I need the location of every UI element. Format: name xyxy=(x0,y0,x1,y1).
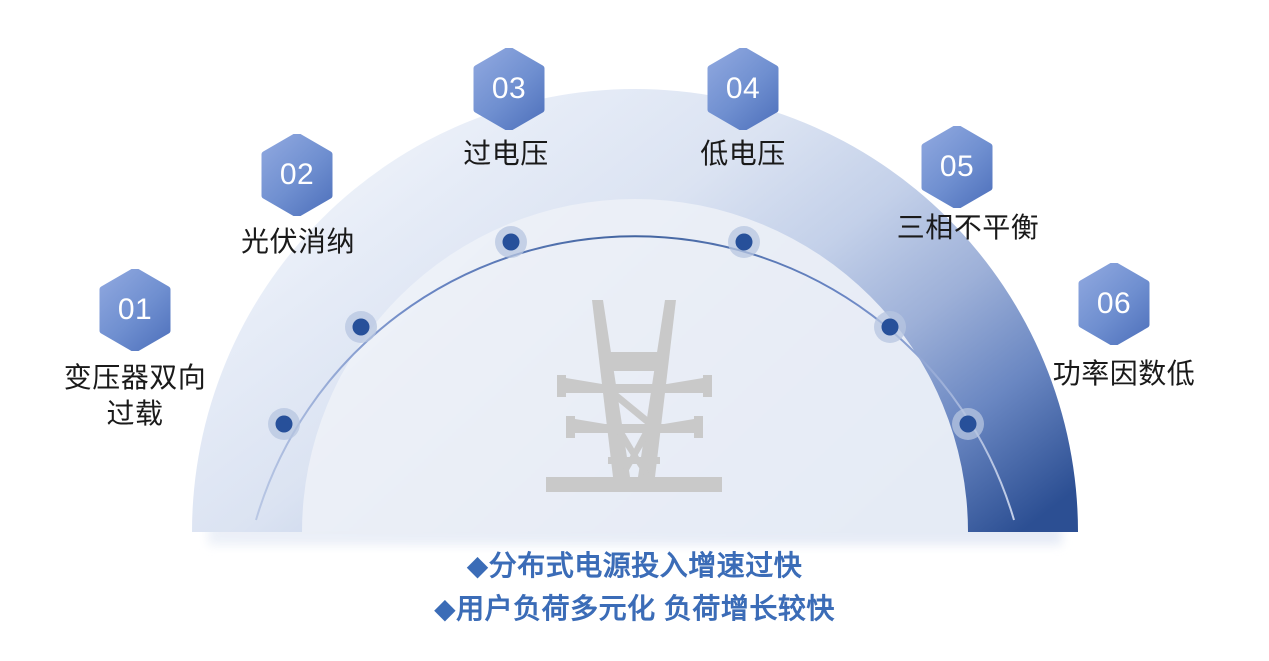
node-badge-02[interactable]: 02 xyxy=(261,134,333,216)
node-badge-05[interactable]: 05 xyxy=(921,126,993,208)
node-label-02: 光伏消纳 xyxy=(178,224,418,260)
arc-dot xyxy=(495,226,527,258)
arc-dot xyxy=(728,226,760,258)
note-text: 分布式电源投入增速过快 xyxy=(489,550,803,581)
node-badge-04[interactable]: 04 xyxy=(707,48,779,130)
arc-dot xyxy=(345,311,377,343)
node-label-01: 变压器双向 过载 xyxy=(25,360,245,432)
notes-list: ◆分布式电源投入增速过快 ◆用户负荷多元化 负荷增长较快 xyxy=(0,545,1269,630)
node-label-04: 低电压 xyxy=(633,136,853,172)
arc-dot xyxy=(952,408,984,440)
note-line-1: ◆分布式电源投入增速过快 xyxy=(0,545,1269,588)
node-badge-number: 06 xyxy=(1097,289,1131,319)
infographic-canvas: 01 02 03 04 05 06 变压器双向 过载 光伏消纳 过电压 低电压 xyxy=(0,0,1269,661)
node-badge-03[interactable]: 03 xyxy=(473,48,545,130)
arc-dot xyxy=(874,311,906,343)
node-badge-number: 02 xyxy=(280,160,314,190)
node-label-03: 过电压 xyxy=(396,136,616,172)
note-text: 用户负荷多元化 负荷增长较快 xyxy=(456,593,835,624)
node-label-05: 三相不平衡 xyxy=(848,210,1088,246)
node-badge-number: 05 xyxy=(940,152,974,182)
node-badge-06[interactable]: 06 xyxy=(1078,263,1150,345)
node-label-06: 功率因数低 xyxy=(1004,356,1244,392)
node-badge-number: 04 xyxy=(726,74,760,104)
node-badge-number: 03 xyxy=(492,74,526,104)
node-badge-01[interactable]: 01 xyxy=(99,269,171,351)
node-badge-number: 01 xyxy=(118,295,152,325)
note-line-2: ◆用户负荷多元化 负荷增长较快 xyxy=(0,588,1269,631)
note-bullet-icon: ◆ xyxy=(434,593,456,624)
note-bullet-icon: ◆ xyxy=(467,550,489,581)
arc-dot xyxy=(268,408,300,440)
